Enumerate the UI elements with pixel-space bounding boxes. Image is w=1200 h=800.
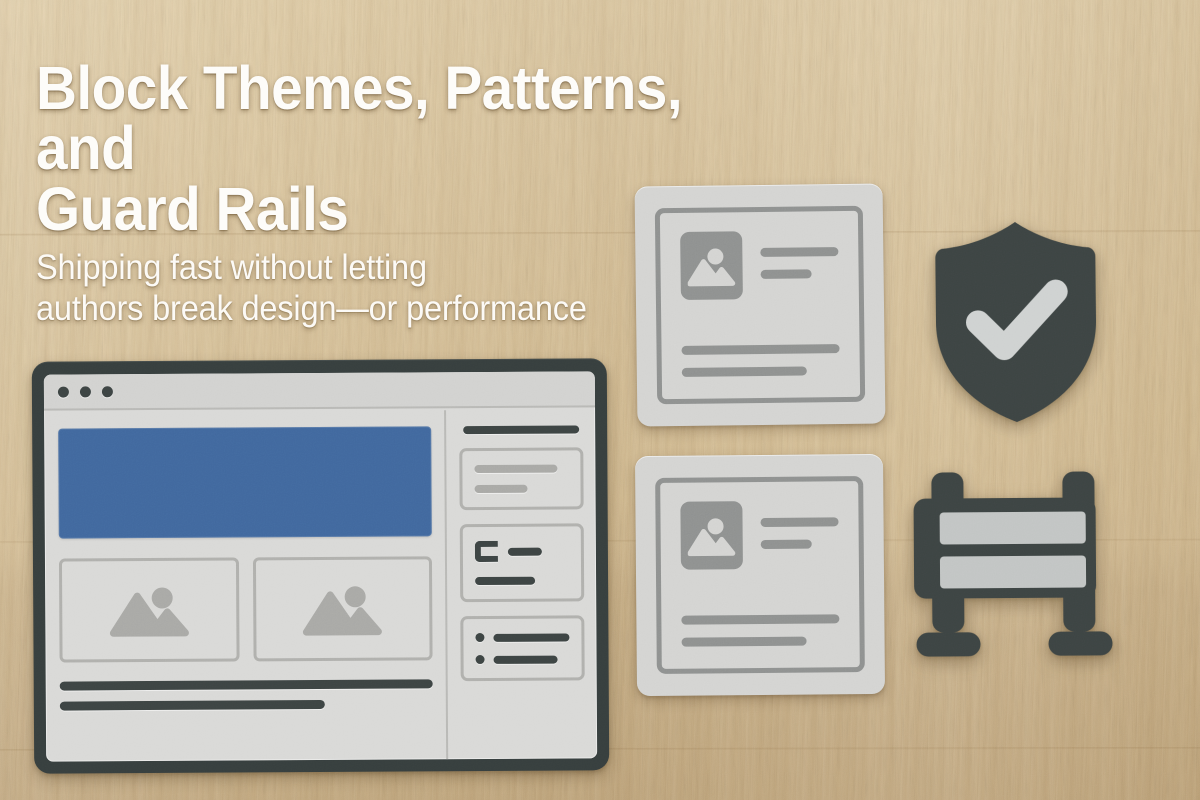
media-grid: [59, 556, 433, 662]
browser-screen: [44, 371, 597, 761]
poster-canvas: Block Themes, Patterns, and Guard Rails …: [0, 0, 1200, 800]
image-placeholder-icon: [107, 581, 191, 640]
bullet-dot-icon: [475, 633, 484, 642]
setting-line-short: [475, 485, 528, 493]
pattern-side-lines: [760, 500, 839, 569]
subheading-line: [761, 540, 813, 549]
inspector-sidebar[interactable]: [446, 409, 597, 759]
hero-cover-block[interactable]: [58, 426, 432, 538]
bullet-dot-icon: [476, 655, 485, 664]
inspector-title-bar: [463, 425, 579, 434]
list-item-label: [493, 633, 569, 641]
panel-typography[interactable]: [459, 447, 583, 510]
subheading-line: [761, 269, 813, 279]
list-item-label: [494, 655, 558, 663]
media-card-right[interactable]: [252, 556, 432, 661]
pattern-card-media-text-1[interactable]: [635, 183, 886, 426]
guard-rail-icon: [907, 467, 1118, 668]
block-label-line: [508, 547, 542, 555]
pattern-media-text-row: [680, 500, 839, 569]
window-minimize-dot-icon[interactable]: [80, 386, 91, 397]
pattern-body-lines: [681, 344, 839, 380]
pattern-media-text-row: [680, 230, 839, 300]
block-glyph-icon: [475, 541, 498, 562]
heading-line: [760, 247, 838, 257]
block-description-line: [475, 577, 535, 585]
window-maximize-dot-icon[interactable]: [102, 386, 113, 397]
editor-canvas[interactable]: [44, 410, 448, 761]
media-card-left[interactable]: [59, 558, 239, 663]
pattern-frame: [655, 476, 865, 674]
panel-list-view[interactable]: [460, 615, 584, 681]
browser-content: [44, 409, 597, 761]
pattern-frame: [655, 206, 865, 405]
paragraph-line-short: [60, 700, 325, 711]
body-line-full: [681, 344, 839, 355]
body-line-short: [682, 637, 807, 647]
block-settings-header: [475, 540, 569, 562]
poster-subtitle: Shipping fast without letting authors br…: [36, 248, 706, 330]
paragraph-block[interactable]: [60, 679, 433, 710]
body-line-full: [681, 614, 839, 624]
setting-line-long: [474, 465, 557, 474]
shield-check-icon: [927, 217, 1105, 427]
site-editor-window[interactable]: [32, 358, 610, 774]
body-line-short: [682, 366, 807, 377]
window-close-dot-icon[interactable]: [58, 386, 69, 397]
pattern-side-lines: [760, 230, 839, 299]
list-item[interactable]: [475, 632, 569, 642]
list-item[interactable]: [476, 654, 570, 664]
panel-block-settings[interactable]: [460, 523, 584, 602]
browser-title-bar: [44, 371, 595, 410]
pattern-card-media-text-2[interactable]: [635, 454, 885, 696]
poster-title: Block Themes, Patterns, and Guard Rails: [36, 58, 687, 239]
pattern-body-lines: [681, 614, 839, 649]
image-placeholder-icon: [300, 580, 384, 639]
image-placeholder-icon: [680, 231, 743, 300]
image-placeholder-icon: [680, 501, 743, 570]
heading-line: [761, 517, 839, 527]
paragraph-line-full: [60, 679, 433, 690]
